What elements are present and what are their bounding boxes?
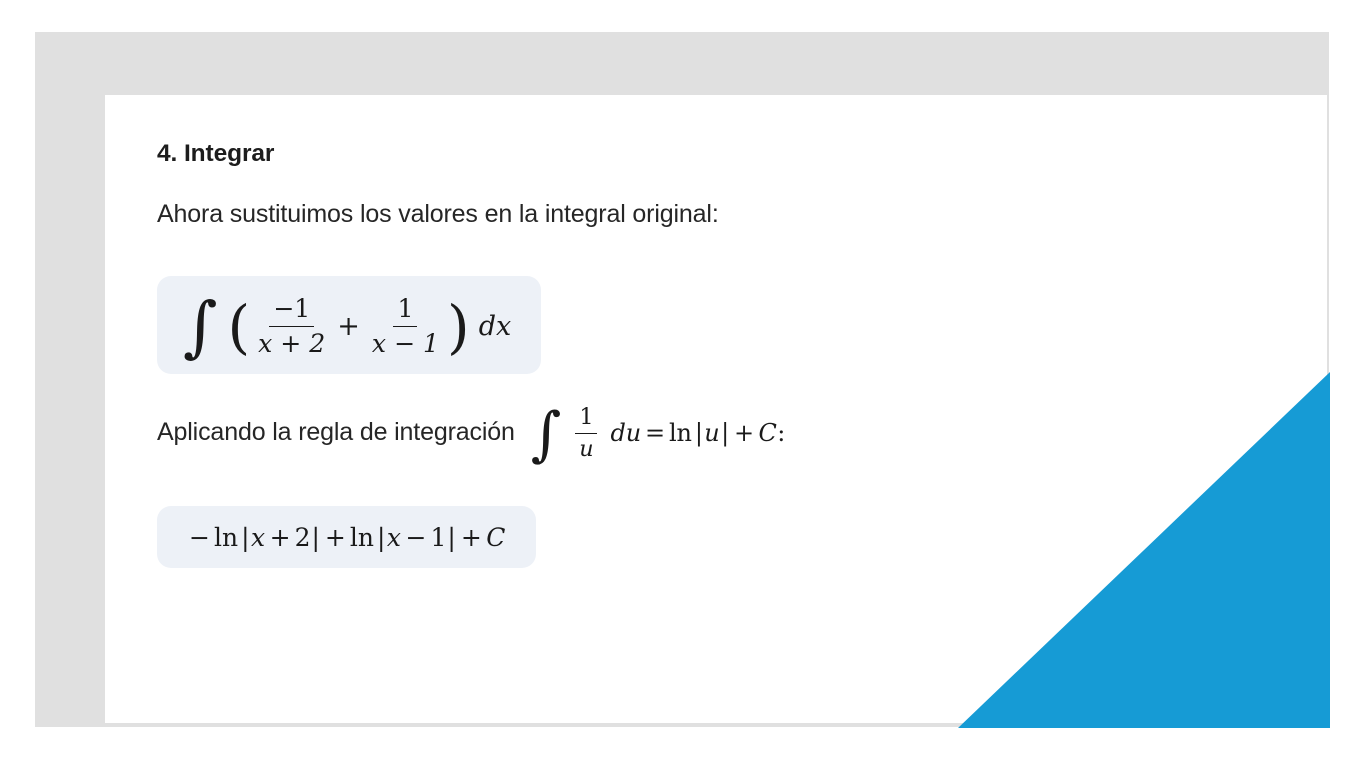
intro-paragraph: Ahora sustituimos los valores en la inte… [157, 198, 1275, 232]
plus-operator-2: + [457, 525, 486, 550]
inline-fraction-numerator: 1 [575, 404, 597, 433]
abs-bar-close: | [720, 421, 730, 445]
abs2-inner-number: 1 [430, 525, 446, 550]
ln-function-name-2: ln [350, 525, 376, 550]
formula-inline-math: ∫ 1 u du = ln | u | + C : [531, 404, 785, 462]
step-title: 4. Integrar [157, 139, 1275, 168]
abs1-bar-open: | [240, 525, 250, 550]
abs-bar-open: | [694, 421, 704, 445]
fraction-1-numerator: −1 [269, 294, 314, 327]
integration-rule-label: Aplicando la regla de integración [157, 416, 515, 450]
integral-sign-icon: ∫ [183, 303, 220, 351]
inline-fraction-denominator: u [575, 434, 597, 462]
differential-dx: dx [470, 313, 512, 340]
plus-operator: + [730, 421, 758, 445]
trailing-colon: : [777, 421, 785, 445]
equals-operator: = [641, 421, 669, 445]
abs2-bar-close: | [446, 525, 456, 550]
fraction-term-2: 1 x − 1 [368, 294, 443, 358]
constant-c: C [486, 525, 506, 550]
plus-operator-1: + [321, 525, 350, 550]
slide-outer-frame: 4. Integrar Ahora sustituimos los valore… [35, 32, 1329, 727]
formula-block-1-wrapper: ∫ ( −1 x + 2 + 1 x − 1 ) dx [157, 232, 1275, 374]
leading-minus-operator: − [185, 525, 214, 550]
abs1-inner-number: 2 [295, 525, 311, 550]
fraction-one-over-u: 1 u [575, 404, 597, 462]
formula-box-2: − ln | x + 2 | + ln | x − 1 | + C [157, 506, 536, 568]
abs-variable-u: u [704, 421, 720, 445]
formula-box-1: ∫ ( −1 x + 2 + 1 x − 1 ) dx [157, 276, 541, 374]
constant-c: C [758, 421, 777, 445]
fraction-2-denominator: x − 1 [368, 327, 443, 359]
abs2-inner-minus: − [402, 525, 431, 550]
integral-sign-icon: ∫ [531, 413, 564, 455]
integration-rule-paragraph: Aplicando la regla de integración ∫ 1 u … [157, 404, 1275, 462]
ln-function-name: ln [669, 421, 694, 445]
abs1-inner-plus: + [266, 525, 295, 550]
differential-du: du [602, 421, 642, 445]
abs1-bar-close: | [310, 525, 320, 550]
fraction-1-denominator: x + 2 [254, 327, 329, 359]
ln-function-name-1: ln [214, 525, 240, 550]
formula-1-math: ∫ ( −1 x + 2 + 1 x − 1 ) dx [183, 294, 511, 358]
fraction-2-numerator: 1 [393, 294, 417, 327]
close-paren: ) [447, 309, 470, 345]
abs2-bar-open: | [376, 525, 386, 550]
open-paren: ( [227, 309, 250, 345]
slide-content-card: 4. Integrar Ahora sustituimos los valore… [105, 95, 1327, 723]
abs2-variable-x: x [386, 525, 401, 550]
formula-2-math: − ln | x + 2 | + ln | x − 1 | + C [185, 525, 506, 550]
fraction-term-1: −1 x + 2 [254, 294, 329, 358]
plus-operator: + [333, 313, 364, 340]
abs1-variable-x: x [251, 525, 266, 550]
formula-block-2-wrapper: − ln | x + 2 | + ln | x − 1 | + C [157, 462, 1275, 568]
